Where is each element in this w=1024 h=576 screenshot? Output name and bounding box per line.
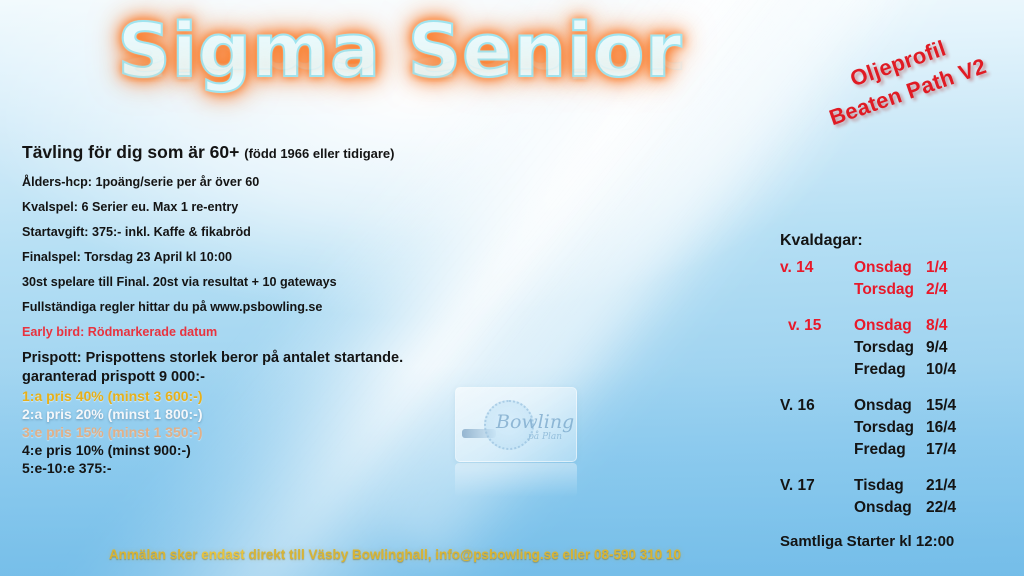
prize-line: 4:e pris 10% (minst 900:-) xyxy=(22,442,542,458)
weekday-label: Torsdag xyxy=(854,337,926,359)
date-label: 22/4 xyxy=(926,497,956,519)
weekday-label: Fredag xyxy=(854,439,926,461)
prize-section: Prispott: Prispottens storlek beror på a… xyxy=(22,350,542,478)
footer-text-part2: direkt till Väsby Bowlinghall, info@psbo… xyxy=(245,547,681,562)
qualifying-days-section: Kvaldagar: v. 14Onsdag1/4Torsdag2/4v. 15… xyxy=(780,232,1024,550)
qualifying-day-row: V. 17Tisdag21/4 xyxy=(780,475,1024,497)
date-label: 2/4 xyxy=(926,279,948,301)
qualifying-day-row: Torsdag16/4 xyxy=(780,417,1024,439)
qualifying-week-group: V. 16Onsdag15/4Torsdag16/4Fredag17/4 xyxy=(780,395,1024,461)
date-label: 15/4 xyxy=(926,395,956,417)
footer-text-part1: Anmälan sker xyxy=(109,547,201,562)
weekday-label: Torsdag xyxy=(854,279,926,301)
prize-guaranteed: garanterad prispott 9 000:- xyxy=(22,369,542,385)
eligibility-headline-main: Tävling för dig som är 60+ xyxy=(22,142,239,162)
rule-line: Startavgift: 375:- inkl. Kaffe & fikabrö… xyxy=(22,225,542,239)
rules-section: Tävling för dig som är 60+ (född 1966 el… xyxy=(22,142,542,350)
oil-pattern-label: Oljeprofil xyxy=(785,14,1011,113)
prize-list: 1:a pris 40% (minst 3 600:-)2:a pris 20%… xyxy=(22,388,542,476)
prize-line: 1:a pris 40% (minst 3 600:-) xyxy=(22,388,542,404)
qualifying-day-row: Torsdag2/4 xyxy=(780,279,1024,301)
qualifying-days-title: Kvaldagar: xyxy=(780,232,1024,250)
qualifying-day-row: Onsdag22/4 xyxy=(780,497,1024,519)
qualifying-week-group: v. 14Onsdag1/4Torsdag2/4 xyxy=(780,257,1024,301)
rule-line: 30st spelare till Final. 20st via result… xyxy=(22,275,542,289)
rule-line: Ålders-hcp: 1poäng/serie per år över 60 xyxy=(22,175,542,189)
week-number-label: V. 17 xyxy=(780,475,854,497)
registration-footer: Anmälan sker endast direkt till Väsby Bo… xyxy=(0,547,790,562)
poster-canvas: Sigma Senior Sigma Senior Oljeprofil Bea… xyxy=(0,0,1024,576)
weekday-label: Fredag xyxy=(854,359,926,381)
week-number-label: v. 14 xyxy=(780,257,854,279)
oil-pattern-badge: Oljeprofil Beaten Path V2 xyxy=(785,14,1021,142)
weekday-label: Onsdag xyxy=(854,257,926,279)
prize-line: 5:e-10:e 375:- xyxy=(22,460,542,476)
date-label: 16/4 xyxy=(926,417,956,439)
weekday-label: Torsdag xyxy=(854,417,926,439)
date-label: 10/4 xyxy=(926,359,956,381)
qualifying-day-row: Torsdag9/4 xyxy=(780,337,1024,359)
page-title-reflection: Sigma Senior xyxy=(0,36,800,82)
week-number-label: V. 16 xyxy=(780,395,854,417)
rule-line: Fullständiga regler hittar du på www.psb… xyxy=(22,300,542,314)
footer-emphasis: endast xyxy=(201,547,245,562)
week-number-label: v. 15 xyxy=(780,315,854,337)
eligibility-headline-sub: (född 1966 eller tidigare) xyxy=(244,146,394,161)
poster-title-block: Sigma Senior Sigma Senior xyxy=(0,14,800,156)
rule-line: Finalspel: Torsdag 23 April kl 10:00 xyxy=(22,250,542,264)
qualifying-week-group: V. 17Tisdag21/4Onsdag22/4 xyxy=(780,475,1024,519)
oil-pattern-name: Beaten Path V2 xyxy=(795,42,1021,141)
qualifying-day-row: Fredag17/4 xyxy=(780,439,1024,461)
eligibility-headline: Tävling för dig som är 60+ (född 1966 el… xyxy=(22,142,542,163)
rule-line: Early bird: Rödmarkerade datum xyxy=(22,325,542,339)
qualifying-week-group: v. 15Onsdag8/4Torsdag9/4Fredag10/4 xyxy=(780,315,1024,381)
qualifying-weeks-list: v. 14Onsdag1/4Torsdag2/4v. 15Onsdag8/4To… xyxy=(780,257,1024,519)
qualifying-day-row: V. 16Onsdag15/4 xyxy=(780,395,1024,417)
start-time-note: Samtliga Starter kl 12:00 xyxy=(780,533,1024,550)
prize-heading: Prispott: Prispottens storlek beror på a… xyxy=(22,350,542,366)
weekday-label: Onsdag xyxy=(854,395,926,417)
qualifying-day-row: v. 15Onsdag8/4 xyxy=(780,315,1024,337)
qualifying-day-row: Fredag10/4 xyxy=(780,359,1024,381)
date-label: 17/4 xyxy=(926,439,956,461)
date-label: 1/4 xyxy=(926,257,948,279)
rules-list: Ålders-hcp: 1poäng/serie per år över 60K… xyxy=(22,175,542,339)
weekday-label: Onsdag xyxy=(854,315,926,337)
date-label: 8/4 xyxy=(926,315,948,337)
qualifying-day-row: v. 14Onsdag1/4 xyxy=(780,257,1024,279)
date-label: 9/4 xyxy=(926,337,948,359)
rule-line: Kvalspel: 6 Serier eu. Max 1 re-entry xyxy=(22,200,542,214)
weekday-label: Onsdag xyxy=(854,497,926,519)
weekday-label: Tisdag xyxy=(854,475,926,497)
page-title: Sigma Senior xyxy=(0,14,800,88)
prize-line: 3:e pris 15% (minst 1 350:-) xyxy=(22,424,542,440)
prize-line: 2:a pris 20% (minst 1 800:-) xyxy=(22,406,542,422)
date-label: 21/4 xyxy=(926,475,956,497)
